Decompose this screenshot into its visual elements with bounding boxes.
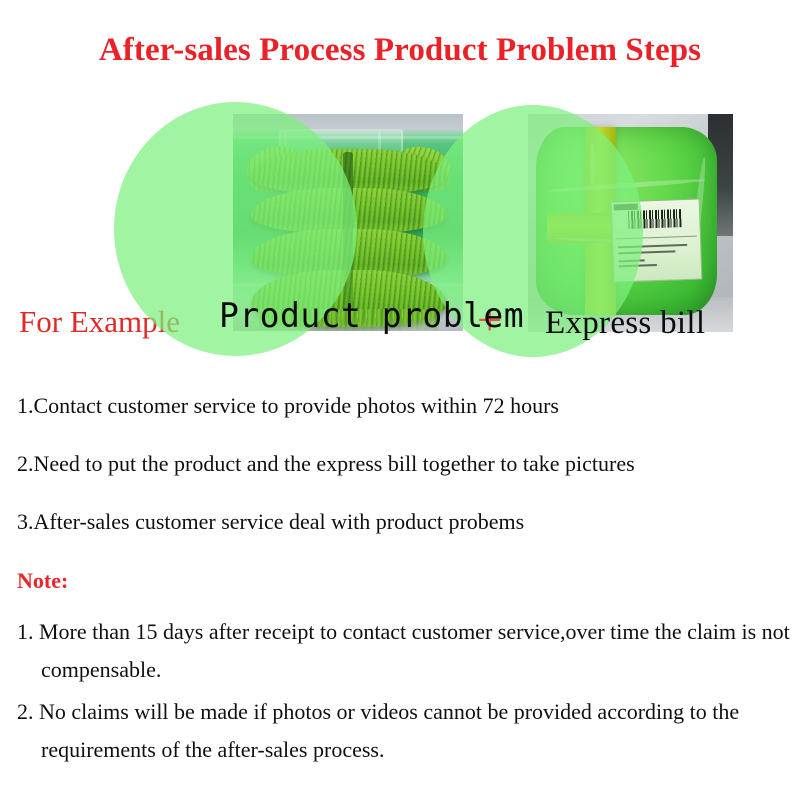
label-divider [615,236,696,240]
label-header-strip [613,204,637,210]
step-item-2: 2.Need to put the product and the expres… [17,450,787,478]
wrapped-parcel [536,127,716,314]
product-problem-caption: Product problem [219,296,524,336]
steps-list: 1.Contact customer service to provide ph… [17,392,787,566]
label-text-line [618,244,687,248]
express-bill-photo-frame [528,114,733,332]
label-text-line [619,250,676,254]
note-item-1: 1. More than 15 days after receipt to co… [17,613,792,689]
note-item-2: 2. No claims will be made if photos or v… [17,693,792,769]
parcel-crease [547,178,706,194]
label-text-line [619,260,645,263]
for-example-label: For Example [19,304,180,340]
example-section: For Example [0,98,800,360]
express-bill-caption: Express bill [545,305,705,342]
bag-fold [233,136,463,139]
step-item-3: 3.After-sales customer service deal with… [17,508,787,536]
express-bill-photo [528,114,733,332]
note-list: 1. More than 15 days after receipt to co… [17,613,792,773]
barcode-icon [627,210,681,229]
shipping-label [611,199,702,283]
note-heading: Note: [17,568,68,594]
step-item-1: 1.Contact customer service to provide ph… [17,392,787,420]
page-title: After-sales Process Product Problem Step… [0,32,800,69]
label-text-line [619,264,657,267]
